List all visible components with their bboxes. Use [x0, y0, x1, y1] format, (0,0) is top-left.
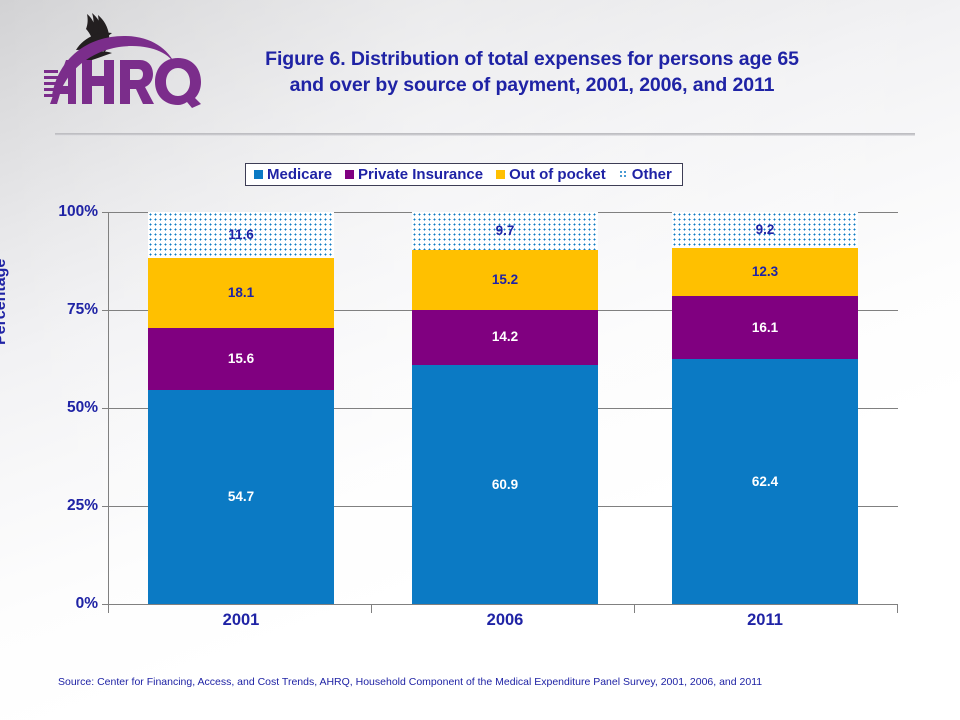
segment-label-2001-private-insurance: 15.6 — [228, 352, 254, 366]
x-axis-label-2011: 2011 — [672, 611, 858, 630]
segment-label-2011-private-insurance: 16.1 — [752, 321, 778, 335]
legend-label-medicare: Medicare — [267, 167, 332, 182]
x-tick-start — [108, 604, 109, 613]
bar-2001[interactable]: 11.6 18.1 15.6 54.7 — [148, 212, 334, 604]
segment-2001-out-of-pocket[interactable]: 18.1 — [148, 258, 334, 329]
y-axis-labels: 100% 75% 50% 25% 0% — [0, 0, 100, 720]
legend-swatch-medicare — [254, 170, 263, 179]
legend-item-other[interactable]: Other — [619, 167, 672, 182]
bar-2011[interactable]: 9.2 12.3 16.1 62.4 — [672, 212, 858, 604]
segment-2006-out-of-pocket[interactable]: 15.2 — [412, 250, 598, 310]
x-tick-2 — [634, 604, 635, 613]
segment-label-2011-medicare: 62.4 — [752, 475, 778, 489]
segment-label-2001-other: 11.6 — [228, 228, 254, 242]
stacked-bar-chart: Medicare Private Insurance Out of pocket… — [0, 0, 960, 720]
legend-item-medicare[interactable]: Medicare — [254, 167, 332, 182]
segment-2006-private-insurance[interactable]: 14.2 — [412, 310, 598, 366]
legend-label-private-insurance: Private Insurance — [358, 167, 483, 182]
segment-2011-private-insurance[interactable]: 16.1 — [672, 296, 858, 359]
bar-2006[interactable]: 9.7 15.2 14.2 60.9 — [412, 212, 598, 604]
segment-2001-private-insurance[interactable]: 15.6 — [148, 328, 334, 389]
segment-2011-out-of-pocket[interactable]: 12.3 — [672, 248, 858, 296]
x-axis-label-2001: 2001 — [148, 611, 334, 630]
y-axis-title: Percentage — [0, 259, 10, 345]
y-tick-label-0: 0% — [0, 596, 98, 611]
legend-label-other: Other — [632, 167, 672, 182]
segment-2011-other[interactable]: 9.2 — [672, 212, 858, 248]
y-tick-label-75: 75% — [0, 302, 98, 317]
segment-label-2011-other: 9.2 — [756, 223, 775, 237]
gridline-0 — [108, 604, 898, 605]
segment-label-2001-out-of-pocket: 18.1 — [228, 286, 254, 300]
legend-label-out-of-pocket: Out of pocket — [509, 167, 606, 182]
segment-2006-other[interactable]: 9.7 — [412, 212, 598, 250]
y-tick-label-100: 100% — [0, 204, 98, 219]
segment-2001-medicare[interactable]: 54.7 — [148, 390, 334, 604]
legend-item-private-insurance[interactable]: Private Insurance — [345, 167, 483, 182]
segment-label-2006-medicare: 60.9 — [492, 478, 518, 492]
segment-label-2006-private-insurance: 14.2 — [492, 330, 518, 344]
legend-swatch-private-insurance — [345, 170, 354, 179]
y-tick-label-25: 25% — [0, 498, 98, 513]
legend-swatch-other — [619, 170, 628, 179]
segment-label-2006-out-of-pocket: 15.2 — [492, 273, 518, 287]
plot-area: 11.6 18.1 15.6 54.7 9.7 15.2 14.2 — [108, 212, 898, 604]
segment-2001-other[interactable]: 11.6 — [148, 212, 334, 258]
legend-swatch-out-of-pocket — [496, 170, 505, 179]
legend-item-out-of-pocket[interactable]: Out of pocket — [496, 167, 606, 182]
segment-label-2011-out-of-pocket: 12.3 — [752, 265, 778, 279]
segment-label-2001-medicare: 54.7 — [228, 490, 254, 504]
segment-label-2006-other: 9.7 — [496, 224, 515, 238]
segment-2011-medicare[interactable]: 62.4 — [672, 359, 858, 604]
x-tick-end — [897, 604, 898, 613]
source-note: Source: Center for Financing, Access, an… — [58, 676, 762, 689]
y-tick-label-50: 50% — [0, 400, 98, 415]
segment-2006-medicare[interactable]: 60.9 — [412, 365, 598, 604]
x-tick-1 — [371, 604, 372, 613]
x-axis-label-2006: 2006 — [412, 611, 598, 630]
chart-legend: Medicare Private Insurance Out of pocket… — [245, 163, 683, 186]
